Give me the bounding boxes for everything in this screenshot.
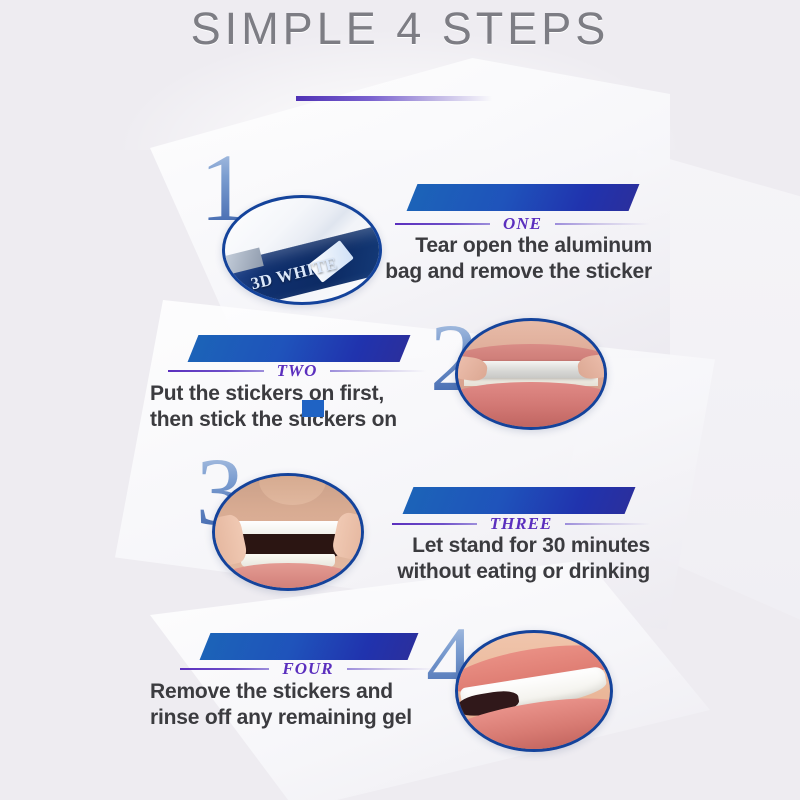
ordinal-line-right [555,223,650,225]
waiting-teeth-photo [212,473,364,591]
ordinal-line-right [565,523,650,525]
foil-corner [222,248,264,276]
photo-content [458,633,610,749]
step-banner-3 [403,487,636,514]
lower-lip [455,382,607,429]
photo-content [458,321,604,427]
ordinal-line-left [392,523,477,525]
step-banner-4 [200,633,419,660]
ordinal-row-4: FOUR [180,659,436,679]
step-text-3: Let stand for 30 minutes without eating … [332,533,650,584]
ordinal-line-right [347,668,436,670]
step-banner-2 [188,335,411,362]
photo-content: 3D WHITE [225,198,379,302]
blue-square-artifact [302,400,324,417]
ordinal-row-1: ONE [395,214,650,234]
photo-content [215,476,361,588]
ordinal-line-left [168,370,264,372]
nose [259,473,326,505]
step-banner-1 [407,184,640,211]
ordinal-line-left [180,668,269,670]
title-divider [296,96,492,101]
lower-lip [224,563,352,591]
ordinal-label-4: FOUR [269,659,346,679]
ordinal-label-3: THREE [477,514,566,534]
finger-right [330,511,364,562]
step-text-1: Tear open the aluminum bag and remove th… [340,233,652,284]
step-text-4: Remove the stickers and rinse off any re… [150,679,460,730]
ordinal-row-2: TWO [168,361,426,381]
infographic-poster: SIMPLE 4 STEPS 1 3D WHITE ONE Tear open … [0,0,800,800]
ordinal-line-right [330,370,426,372]
ordinal-label-1: ONE [490,214,555,234]
final-smile-photo [455,630,613,752]
page-title: SIMPLE 4 STEPS [0,3,800,55]
strip-application-photo [455,318,607,430]
foil-sachet-photo: 3D WHITE [222,195,382,305]
step-text-2: Put the stickers on first, then stick th… [150,381,450,432]
ordinal-label-2: TWO [264,361,331,381]
ordinal-row-3: THREE [392,514,650,534]
ordinal-line-left [395,223,490,225]
